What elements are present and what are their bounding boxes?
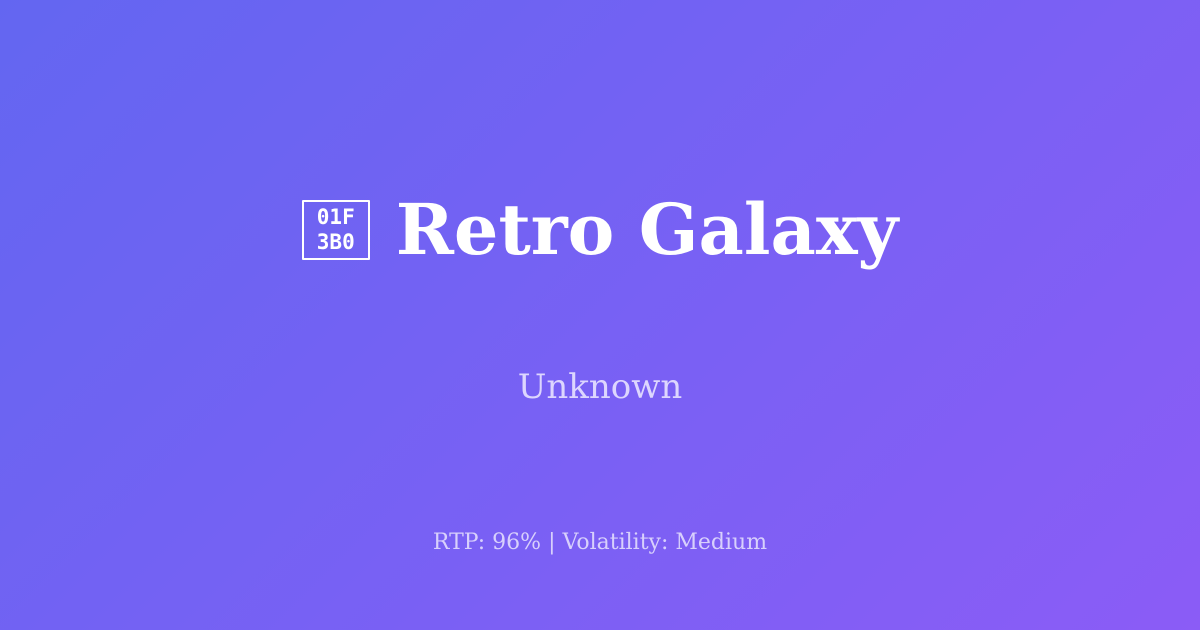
- codepoint-row-bottom: 3B0: [317, 230, 355, 255]
- codepoint-row-top: 01F: [317, 205, 355, 230]
- game-preview-card: 01F 3B0 Retro Galaxy Unknown RTP: 96% | …: [0, 0, 1200, 630]
- slot-machine-icon: 01F 3B0: [302, 200, 370, 260]
- title-line: 01F 3B0 Retro Galaxy: [0, 193, 1200, 267]
- game-stats-line: RTP: 96% | Volatility: Medium: [0, 528, 1200, 558]
- game-title: Retro Galaxy: [396, 193, 898, 267]
- game-provider: Unknown: [0, 365, 1200, 409]
